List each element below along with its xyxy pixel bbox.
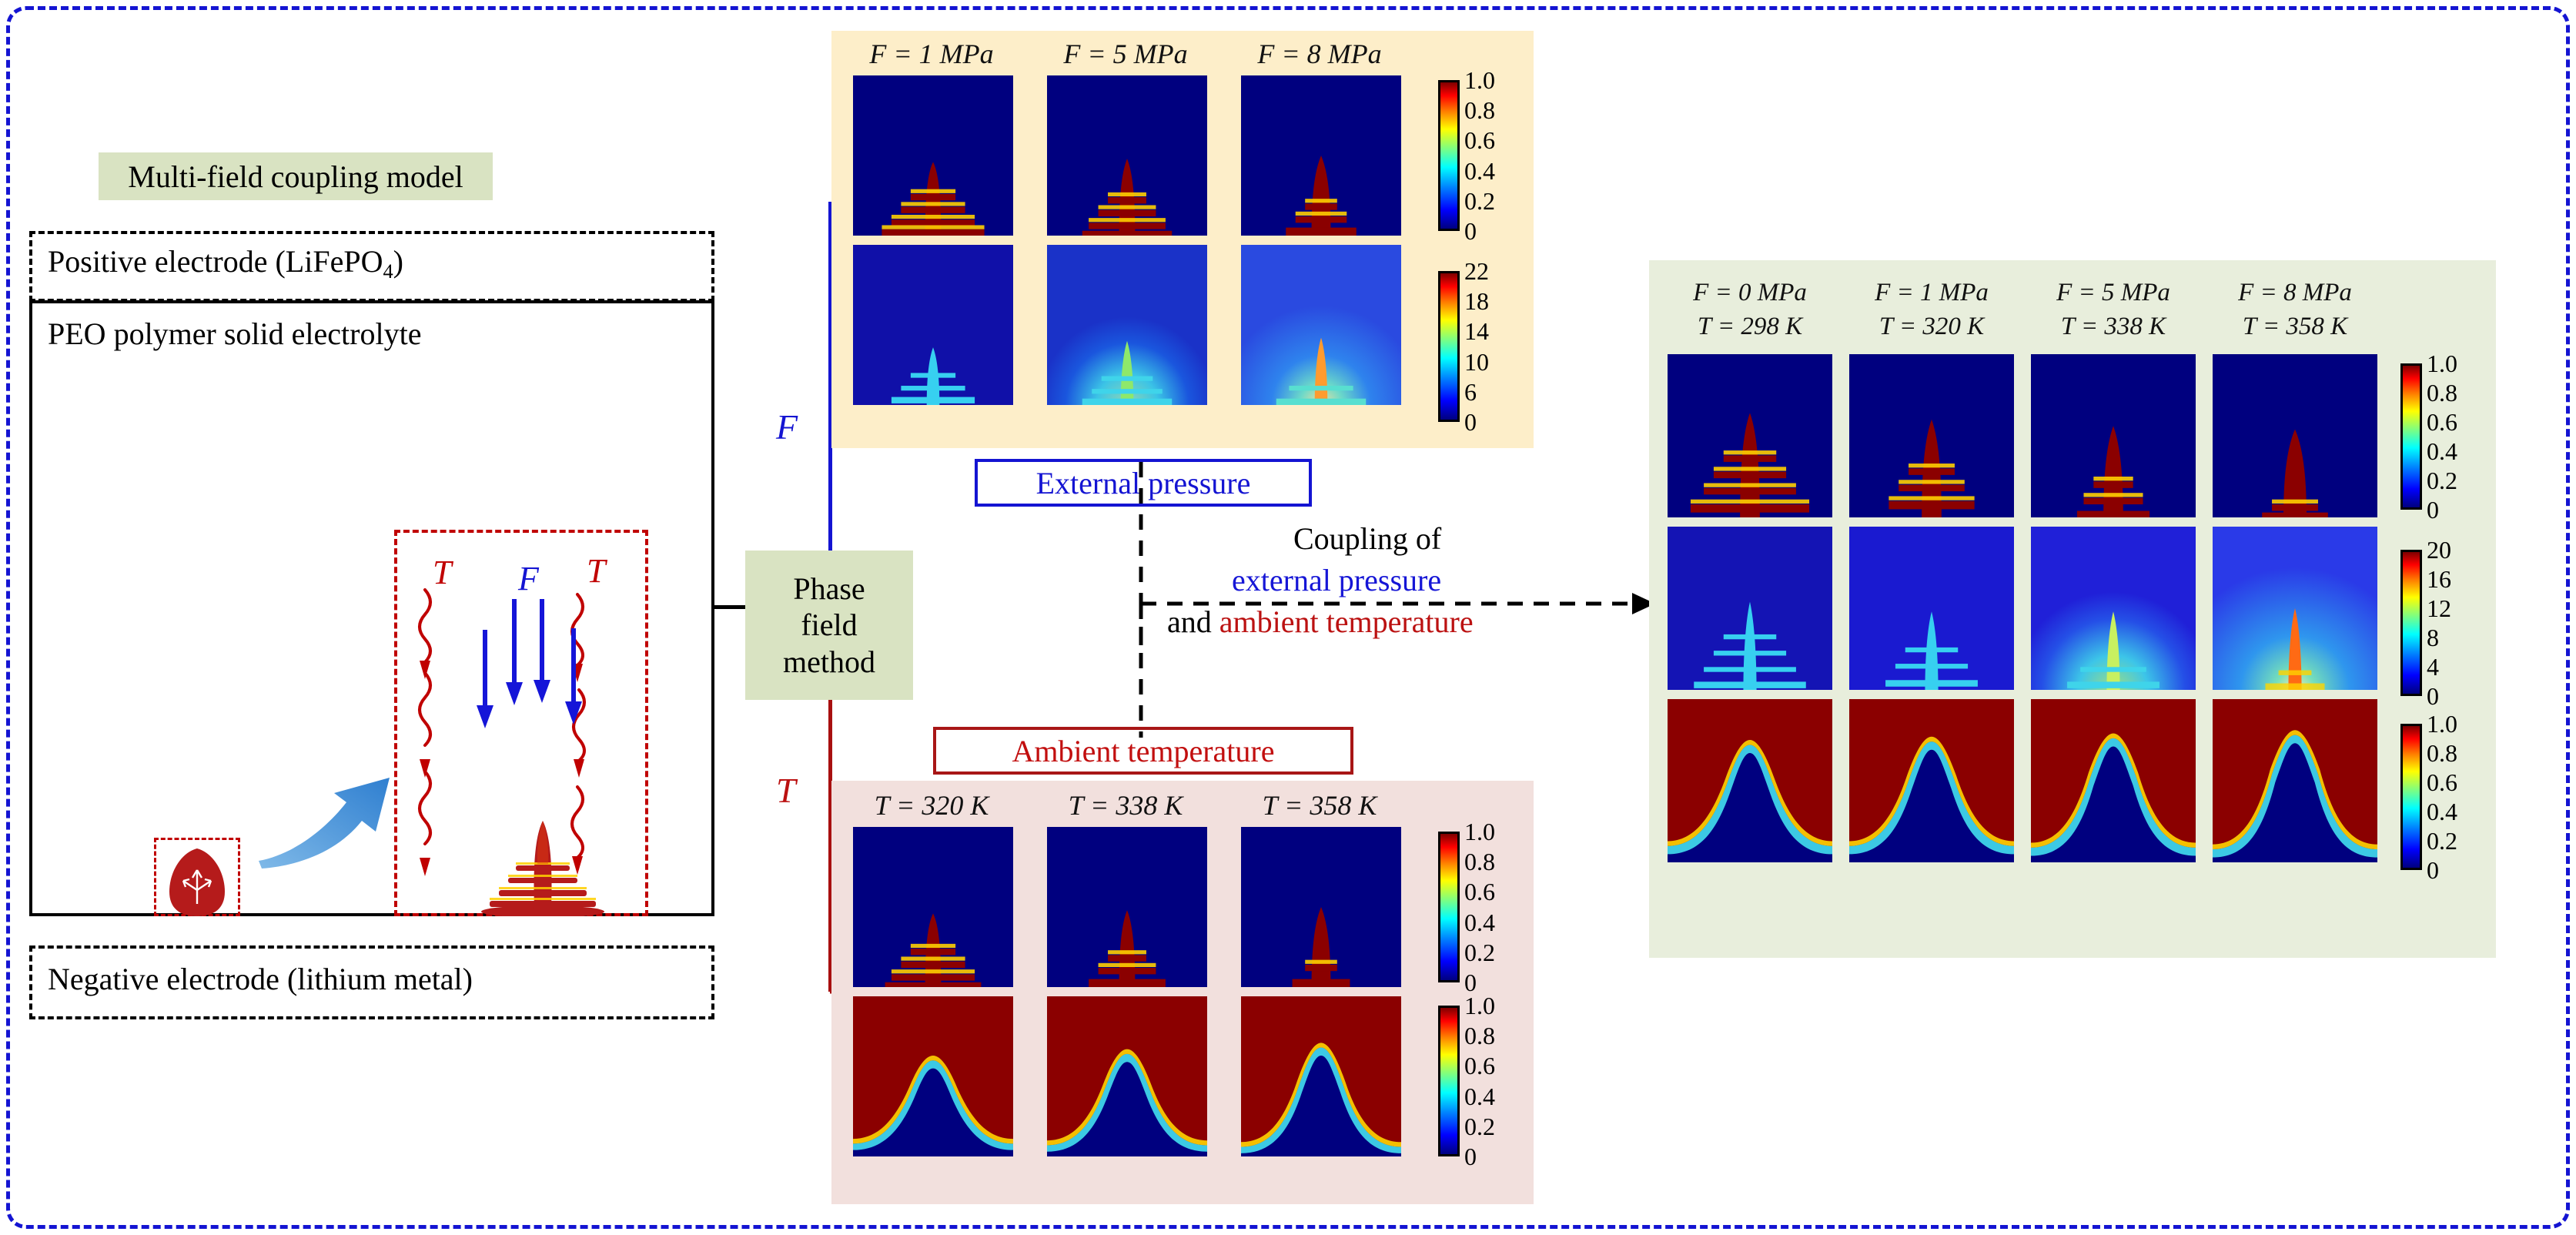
tcbar0-tick-1: 0.8 — [1464, 849, 1495, 874]
cbar0-tick-3: 0.4 — [1464, 159, 1495, 183]
ccbar0-tick-1: 0.8 — [2427, 380, 2457, 405]
coupling-connector-down — [1132, 601, 1155, 739]
coupling-tile-r2-c0 — [1668, 699, 1832, 862]
coupling-tile-r1-c1 — [1849, 527, 2014, 690]
tcbar0-tick-3: 0.4 — [1464, 910, 1495, 935]
coupling-col2-force: F = 5 MPa — [2028, 277, 2199, 308]
coupling-tile-r0-c3 — [2213, 354, 2377, 517]
temperature-col-header-1: T = 338 K — [1041, 788, 1210, 822]
temperature-colorbar-1-ticks: 1.0 0.8 0.6 0.4 0.2 0 — [1464, 1006, 1534, 1156]
ccbar0-tick-4: 0.2 — [2427, 468, 2457, 493]
coupling-col0-temperature: T = 298 K — [1664, 311, 1835, 342]
coupling-col0-force: F = 0 MPa — [1664, 277, 1835, 308]
tcbar1-tick-5: 0 — [1464, 1144, 1477, 1169]
temperature-col-header-0: T = 320 K — [847, 788, 1016, 822]
ccbar2-tick-3: 0.4 — [2427, 799, 2457, 824]
figure-root: Multi-field coupling model Positive elec… — [0, 0, 2576, 1235]
zoomed-dendrite-shape — [477, 818, 608, 916]
coupling-tile-r0-c0 — [1668, 354, 1832, 517]
coupling-tile-r1-c3 — [2213, 527, 2377, 690]
coupling-caption-line3: and ambient temperature — [1167, 605, 1474, 640]
ccbar2-tick-1: 0.8 — [2427, 741, 2457, 765]
temperature-tile-r1-c0 — [853, 996, 1013, 1156]
positive-electrode-paren: ) — [393, 244, 403, 279]
zoom-arrow-icon — [254, 770, 400, 870]
pressure-tile-r1-c1 — [1047, 245, 1207, 405]
coupling-col1-force: F = 1 MPa — [1846, 277, 2017, 308]
coupling-tile-r0-c1 — [1849, 354, 2014, 517]
coupling-colorbar-2-ticks: 1.0 0.8 0.6 0.4 0.2 0 — [2427, 724, 2497, 870]
cbar0-tick-0: 1.0 — [1464, 68, 1495, 92]
positive-electrode-text: Positive electrode (LiFePO — [48, 244, 383, 279]
electrolyte-label: PEO polymer solid electrolyte — [48, 316, 421, 352]
cbar1-tick-4: 6 — [1464, 380, 1477, 404]
phase-field-method-tag: Phase field method — [745, 551, 913, 700]
pressure-col-header-2: F = 8 MPa — [1235, 37, 1404, 71]
pressure-tile-r0-c0 — [853, 75, 1013, 236]
temperature-colorbar-1 — [1438, 1006, 1460, 1156]
coupling-colorbar-1 — [2400, 550, 2422, 696]
coupling-col2-temperature: T = 338 K — [2028, 311, 2199, 342]
coupling-tile-r1-c2 — [2031, 527, 2196, 690]
tcbar1-tick-1: 0.8 — [1464, 1023, 1495, 1048]
pressure-colorbar-1-ticks: 22 18 14 10 6 0 — [1464, 271, 1534, 422]
coupling-tile-r2-c3 — [2213, 699, 2377, 862]
branch-label-temperature: T — [776, 770, 796, 811]
coupling-caption-line1: Coupling of — [1293, 522, 1441, 557]
pressure-colorbar-0-ticks: 1.0 0.8 0.6 0.4 0.2 0 — [1464, 80, 1534, 231]
temperature-tile-r1-c2 — [1241, 996, 1401, 1156]
coupling-colorbar-0 — [2400, 363, 2422, 510]
ccbar0-tick-0: 1.0 — [2427, 351, 2457, 376]
coupling-caption-and: and — [1167, 604, 1219, 639]
method-tag-line2: field — [801, 607, 857, 643]
positive-electrode-subscript: 4 — [383, 259, 393, 283]
coupling-caption-line2: external pressure — [1232, 564, 1441, 598]
tcbar1-tick-4: 0.2 — [1464, 1114, 1495, 1139]
pressure-tile-r1-c0 — [853, 245, 1013, 405]
pressure-tile-r1-c2 — [1241, 245, 1401, 405]
ccbar1-tick-3: 8 — [2427, 625, 2439, 650]
tcbar0-tick-0: 1.0 — [1464, 819, 1495, 844]
coupling-colorbar-0-ticks: 1.0 0.8 0.6 0.4 0.2 0 — [2427, 363, 2497, 510]
ccbar1-tick-0: 20 — [2427, 537, 2451, 562]
cbar1-tick-0: 22 — [1464, 259, 1489, 283]
ccbar0-tick-3: 0.4 — [2427, 439, 2457, 464]
pressure-col-header-0: F = 1 MPa — [847, 37, 1016, 71]
ccbar2-tick-2: 0.6 — [2427, 770, 2457, 795]
temperature-col-header-2: T = 358 K — [1235, 788, 1404, 822]
coupling-colorbar-1-ticks: 20 16 12 8 4 0 — [2427, 550, 2497, 696]
method-tag-line3: method — [783, 644, 875, 680]
temperature-colorbar-0-ticks: 1.0 0.8 0.6 0.4 0.2 0 — [1464, 832, 1534, 982]
ccbar0-tick-2: 0.6 — [2427, 410, 2457, 434]
coupling-col3-force: F = 8 MPa — [2210, 277, 2380, 308]
method-tag-line1: Phase — [793, 571, 865, 607]
coupling-col3-temperature: T = 358 K — [2210, 311, 2380, 342]
coupling-tile-r1-c0 — [1668, 527, 1832, 690]
cbar0-tick-5: 0 — [1464, 219, 1477, 243]
cbar0-tick-4: 0.2 — [1464, 189, 1495, 213]
negative-electrode-label: Negative electrode (lithium metal) — [48, 961, 473, 997]
pressure-colorbar-1 — [1438, 271, 1460, 422]
coupling-col1-temperature: T = 320 K — [1846, 311, 2017, 342]
ccbar2-tick-5: 0 — [2427, 858, 2439, 882]
temperature-colorbar-0 — [1438, 832, 1460, 982]
multi-field-model-tag: Multi-field coupling model — [99, 152, 493, 200]
pressure-col-header-1: F = 5 MPa — [1041, 37, 1210, 71]
dendrite-seed-shape — [159, 847, 236, 918]
ccbar2-tick-4: 0.2 — [2427, 828, 2457, 853]
cbar0-tick-2: 0.6 — [1464, 128, 1495, 152]
tcbar0-tick-2: 0.6 — [1464, 879, 1495, 904]
positive-electrode-label: Positive electrode (LiFePO4) — [48, 243, 403, 283]
cbar0-tick-1: 0.8 — [1464, 98, 1495, 122]
coupling-tile-r0-c2 — [2031, 354, 2196, 517]
tcbar1-tick-3: 0.4 — [1464, 1084, 1495, 1109]
ccbar1-tick-1: 16 — [2427, 567, 2451, 591]
temperature-tile-r0-c2 — [1241, 827, 1401, 987]
temperature-tile-r0-c1 — [1047, 827, 1207, 987]
force-arrows — [454, 597, 631, 767]
coupling-tile-r2-c2 — [2031, 699, 2196, 862]
ccbar0-tick-5: 0 — [2427, 497, 2439, 522]
tcbar0-tick-4: 0.2 — [1464, 940, 1495, 965]
pressure-colorbar-0 — [1438, 80, 1460, 231]
tcbar1-tick-2: 0.6 — [1464, 1053, 1495, 1078]
pressure-tile-r0-c1 — [1047, 75, 1207, 236]
coupling-colorbar-2 — [2400, 724, 2422, 870]
temperature-tile-r0-c0 — [853, 827, 1013, 987]
ccbar1-tick-5: 0 — [2427, 684, 2439, 708]
cbar1-tick-5: 0 — [1464, 410, 1477, 434]
cbar1-tick-3: 10 — [1464, 350, 1489, 374]
cbar1-tick-1: 18 — [1464, 289, 1489, 313]
temperature-tile-r1-c1 — [1047, 996, 1207, 1156]
cbar1-tick-2: 14 — [1464, 319, 1489, 343]
ccbar2-tick-0: 1.0 — [2427, 711, 2457, 736]
ccbar1-tick-4: 4 — [2427, 654, 2439, 679]
coupling-tile-r2-c1 — [1849, 699, 2014, 862]
ccbar1-tick-2: 12 — [2427, 596, 2451, 621]
coupling-caption-ambient: ambient temperature — [1219, 604, 1474, 639]
pressure-tile-r0-c2 — [1241, 75, 1401, 236]
tcbar1-tick-0: 1.0 — [1464, 993, 1495, 1018]
branch-label-pressure: F — [776, 407, 798, 447]
